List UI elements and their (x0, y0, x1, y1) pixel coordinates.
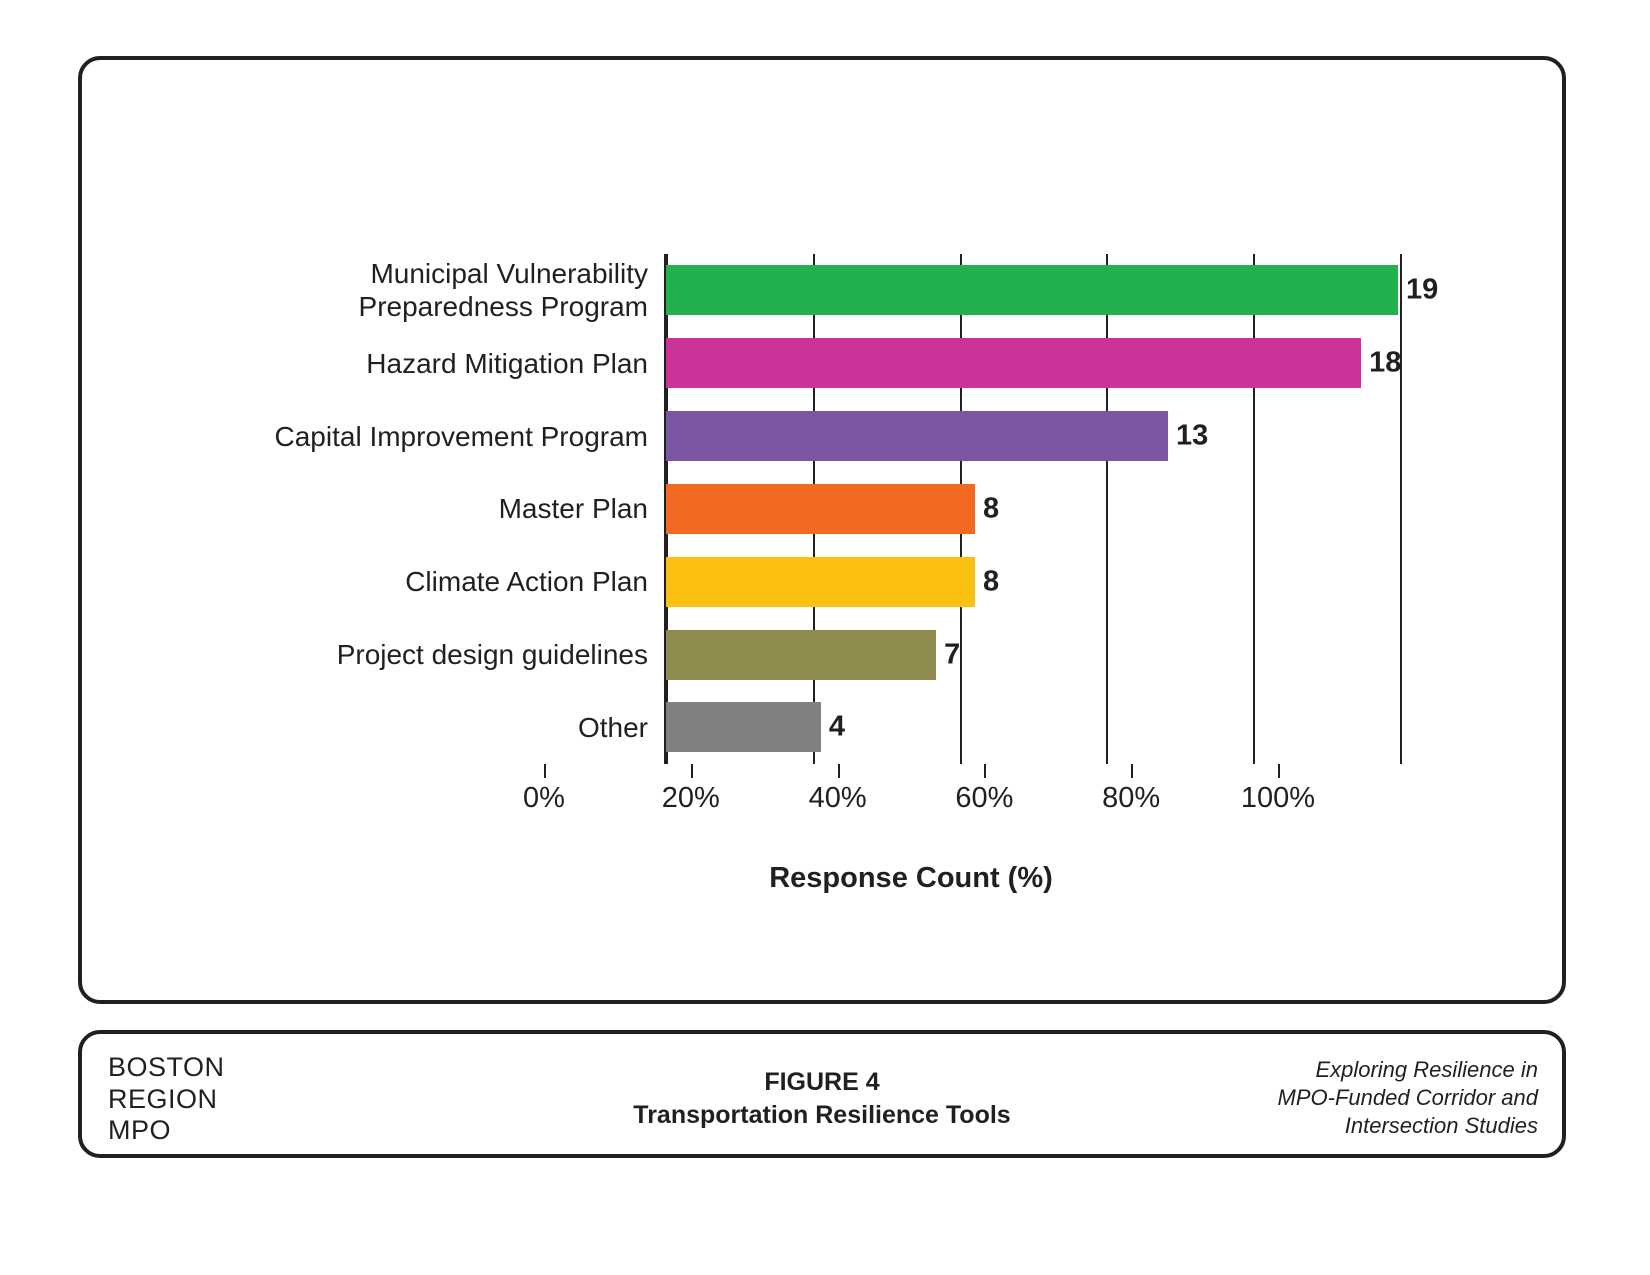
x-tick-label: 0% (523, 782, 565, 815)
caption-line-2: MPO-Funded Corridor and (1118, 1084, 1538, 1112)
x-tick-0 (544, 764, 546, 778)
bar-chart: Municipal Vulnerability Preparedness Pro… (82, 60, 1562, 1000)
gridline-100 (1400, 254, 1402, 764)
category-label: Master Plan (499, 492, 662, 525)
x-tick-label: 100% (1241, 782, 1315, 815)
bar-value-label: 8 (983, 565, 999, 598)
category-label-column: Municipal Vulnerability Preparedness Pro… (202, 254, 662, 764)
bar-row: 13 (666, 400, 1398, 473)
bar-value-label: 8 (983, 492, 999, 525)
category-row: Municipal Vulnerability Preparedness Pro… (202, 254, 662, 327)
x-tick-60 (984, 764, 986, 778)
bar[interactable]: 19 (666, 265, 1398, 315)
bar-value-label: 4 (829, 711, 845, 744)
x-tick-20 (691, 764, 693, 778)
bar-row: 19 (666, 254, 1398, 327)
x-axis-title: Response Count (%) (544, 862, 1278, 895)
report-caption: Exploring Resilience in MPO-Funded Corri… (1118, 1056, 1538, 1140)
bar-row: 18 (666, 327, 1398, 400)
plot-area: 1918138874 (664, 254, 1398, 764)
bar-row: 7 (666, 618, 1398, 691)
bar[interactable]: 13 (666, 411, 1168, 461)
footer-panel: BOSTON REGION MPO FIGURE 4 Transportatio… (78, 1030, 1566, 1158)
bar-value-label: 7 (944, 638, 960, 671)
category-label: Hazard Mitigation Plan (366, 347, 662, 380)
bar-row: 8 (666, 473, 1398, 546)
category-label: Other (578, 711, 662, 744)
x-tick-40 (838, 764, 840, 778)
figure-panel: Municipal Vulnerability Preparedness Pro… (78, 56, 1566, 1004)
x-tick-100 (1278, 764, 1280, 778)
bar-rows: 1918138874 (666, 254, 1398, 764)
category-row: Master Plan (202, 473, 662, 546)
category-row: Climate Action Plan (202, 545, 662, 618)
bar[interactable]: 4 (666, 702, 821, 752)
bar-value-label: 13 (1176, 420, 1208, 453)
category-row: Project design guidelines (202, 618, 662, 691)
x-tick-label: 80% (1102, 782, 1160, 815)
bar-value-label: 18 (1369, 347, 1401, 380)
category-label: Capital Improvement Program (275, 420, 662, 453)
category-label: Climate Action Plan (405, 565, 662, 598)
bar-row: 8 (666, 545, 1398, 618)
x-tick-80 (1131, 764, 1133, 778)
bar[interactable]: 8 (666, 557, 975, 607)
bar-value-label: 19 (1406, 274, 1438, 307)
category-label: Project design guidelines (337, 638, 662, 671)
bar-row: 4 (666, 691, 1398, 764)
category-row: Other (202, 691, 662, 764)
bar[interactable]: 18 (666, 338, 1361, 388)
caption-line-3: Intersection Studies (1118, 1112, 1538, 1140)
caption-line-1: Exploring Resilience in (1118, 1056, 1538, 1084)
x-tick-label: 40% (809, 782, 867, 815)
bar[interactable]: 7 (666, 630, 936, 680)
plot-block: Municipal Vulnerability Preparedness Pro… (202, 254, 1472, 764)
bar[interactable]: 8 (666, 484, 975, 534)
x-tick-label: 60% (955, 782, 1013, 815)
category-label: Municipal Vulnerability Preparedness Pro… (359, 257, 662, 323)
x-tick-label: 20% (662, 782, 720, 815)
category-row: Capital Improvement Program (202, 400, 662, 473)
category-row: Hazard Mitigation Plan (202, 327, 662, 400)
